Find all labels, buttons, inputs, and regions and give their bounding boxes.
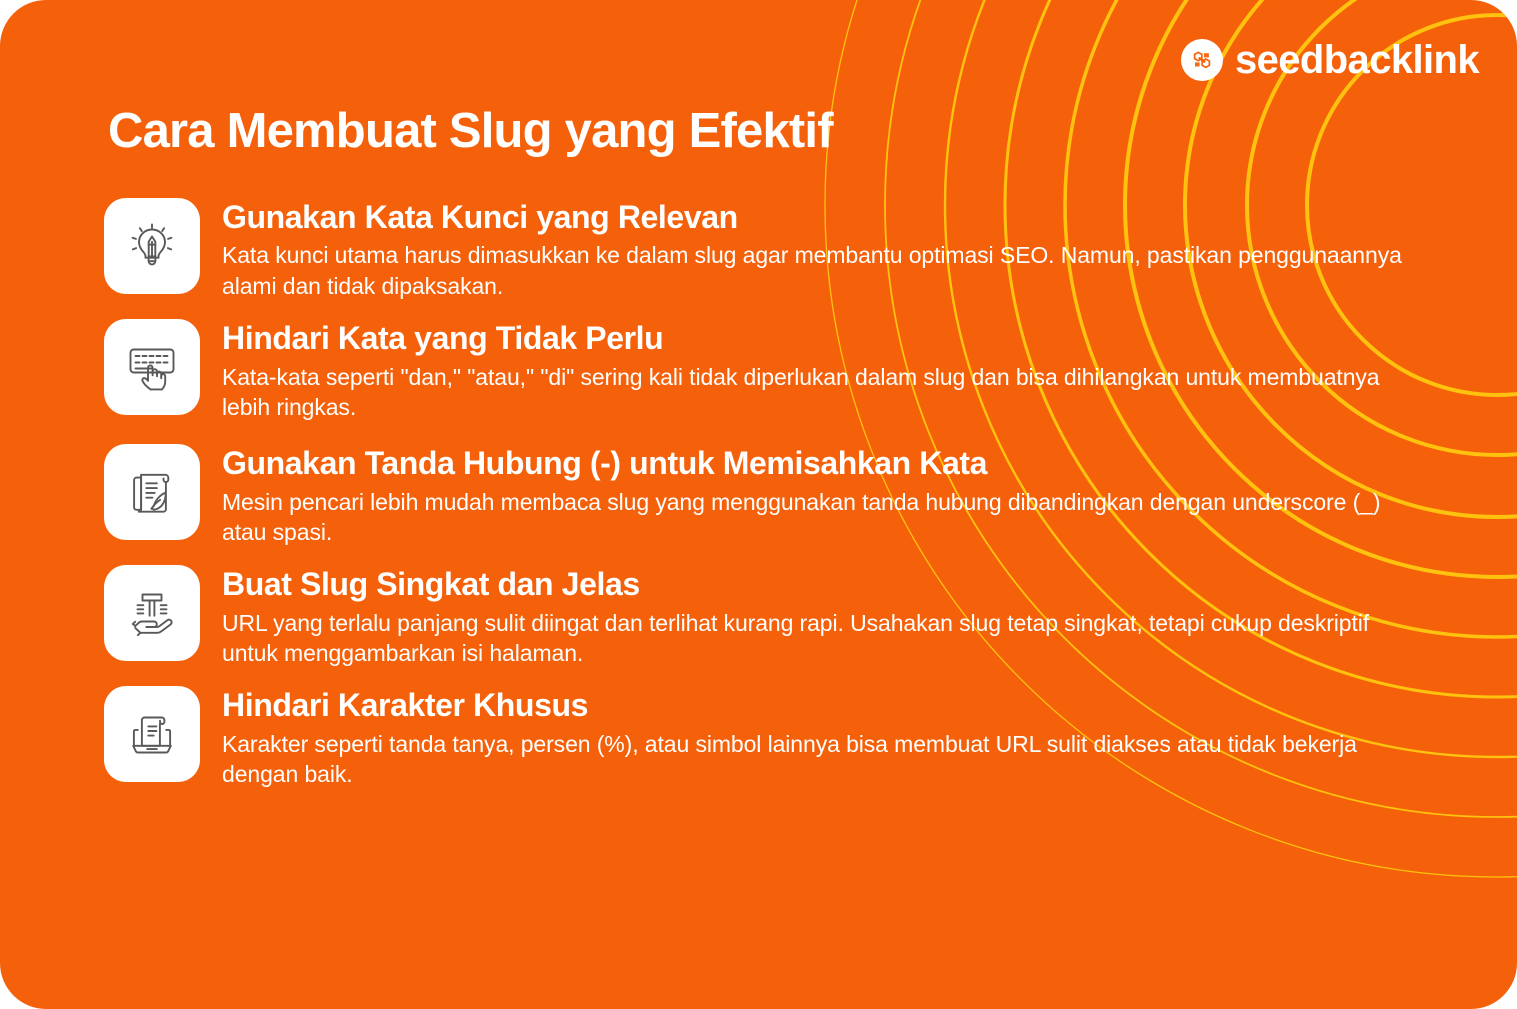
hand-holding-text-icon [122,583,182,643]
keyboard-hand-icon [122,337,182,397]
list-item-body: Buat Slug Singkat dan Jelas URL yang ter… [222,563,1457,668]
icon-tile [104,319,200,415]
icon-tile [104,686,200,782]
list-item-description: Karakter seperti tanda tanya, persen (%)… [222,729,1407,790]
list-item: Gunakan Tanda Hubung (-) untuk Memisahka… [104,442,1457,547]
infographic-poster: seedbacklink Cara Membuat Slug yang Efek… [0,0,1517,1009]
page-title: Cara Membuat Slug yang Efektif [108,103,833,159]
icon-tile [104,444,200,540]
list-item-body: Hindari Kata yang Tidak Perlu Kata-kata … [222,317,1457,422]
icon-tile [104,565,200,661]
list-item-description: Kata-kata seperti "dan," "atau," "di" se… [222,362,1407,423]
document-tray-icon [122,704,182,764]
tips-list: Gunakan Kata Kunci yang Relevan Kata kun… [104,196,1457,790]
lightbulb-pencil-icon [122,216,182,276]
list-item-body: Gunakan Tanda Hubung (-) untuk Memisahka… [222,442,1457,547]
list-item-heading: Hindari Kata yang Tidak Perlu [222,319,1457,357]
list-item-description: URL yang terlalu panjang sulit diingat d… [222,608,1407,669]
icon-tile [104,198,200,294]
list-item-heading: Hindari Karakter Khusus [222,686,1457,724]
hexagon-link-mark-icon [1181,39,1223,81]
list-item-heading: Gunakan Tanda Hubung (-) untuk Memisahka… [222,444,1457,482]
list-item: Gunakan Kata Kunci yang Relevan Kata kun… [104,196,1457,301]
brand-logo: seedbacklink [1181,39,1479,81]
list-item-body: Gunakan Kata Kunci yang Relevan Kata kun… [222,196,1457,301]
list-item-heading: Gunakan Kata Kunci yang Relevan [222,198,1457,236]
list-item: Buat Slug Singkat dan Jelas URL yang ter… [104,563,1457,668]
list-item: Hindari Karakter Khusus Karakter seperti… [104,684,1457,789]
brand-wordmark: seedbacklink [1235,40,1479,80]
scroll-quill-icon [122,462,182,522]
list-item-description: Kata kunci utama harus dimasukkan ke dal… [222,240,1407,301]
list-item-description: Mesin pencari lebih mudah membaca slug y… [222,487,1407,548]
list-item-body: Hindari Karakter Khusus Karakter seperti… [222,684,1457,789]
list-item-heading: Buat Slug Singkat dan Jelas [222,565,1457,603]
list-item: Hindari Kata yang Tidak Perlu Kata-kata … [104,317,1457,422]
